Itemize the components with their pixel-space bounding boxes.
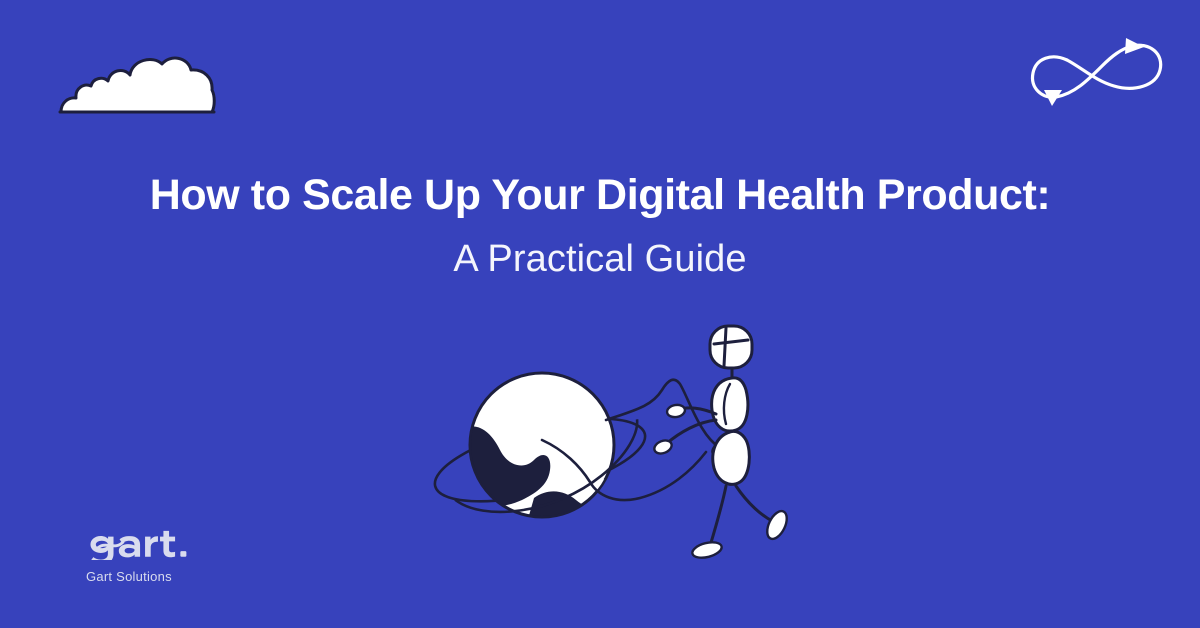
devops-infinity-arrow-icon — [1022, 22, 1174, 118]
brand-tagline: Gart Solutions — [86, 569, 302, 584]
cloud-icon — [58, 50, 218, 116]
person-pulling-planet-illustration — [430, 310, 830, 570]
stick-person-icon — [652, 326, 790, 560]
brand-logo[interactable]: Gart Solutions — [82, 528, 302, 584]
headline-block: How to Scale Up Your Digital Health Prod… — [0, 170, 1200, 282]
cover-canvas: How to Scale Up Your Digital Health Prod… — [0, 0, 1200, 628]
planet-with-ring-icon — [458, 373, 620, 526]
gart-wordmark-icon — [82, 528, 194, 560]
page-subtitle: A Practical Guide — [0, 237, 1200, 283]
page-title: How to Scale Up Your Digital Health Prod… — [0, 170, 1200, 221]
